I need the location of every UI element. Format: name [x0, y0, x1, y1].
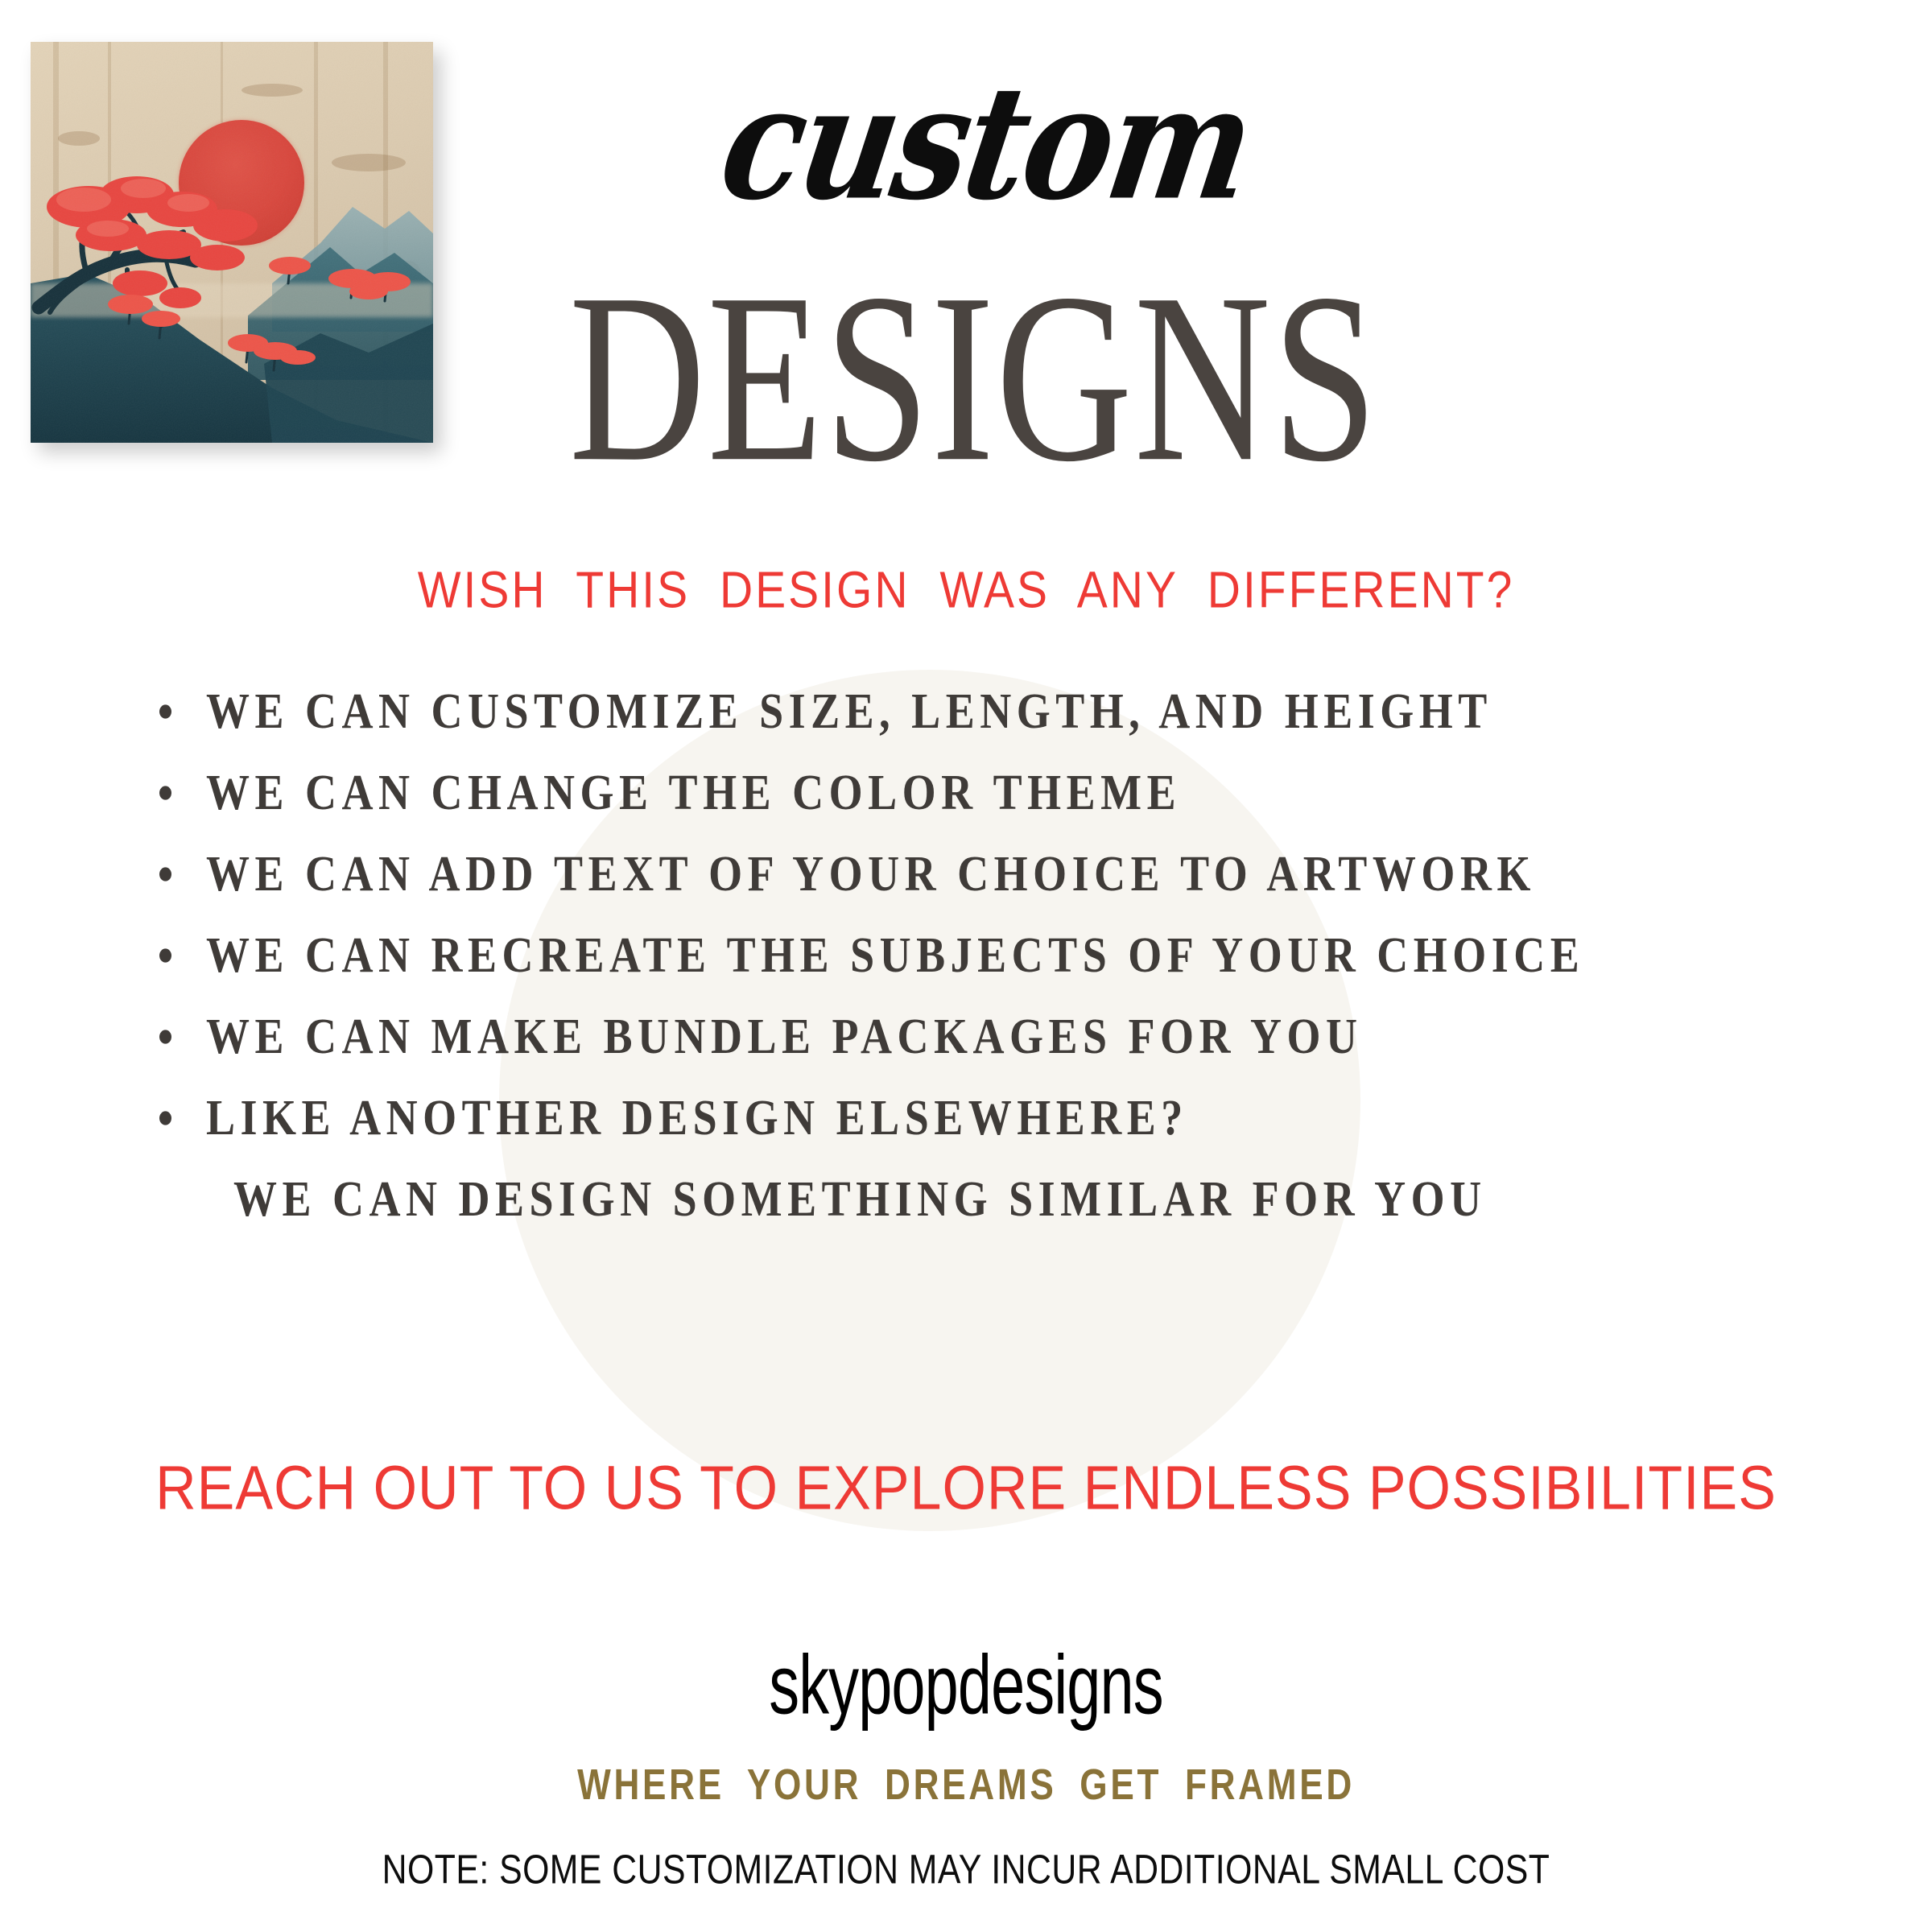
- list-item-label: LIKE ANOTHER DESIGN ELSEWHERE?: [206, 1090, 1188, 1146]
- page-title-serif: DESIGNS: [451, 263, 1497, 493]
- headline-block: custom DESIGNS: [451, 89, 1497, 443]
- page-title-script: custom: [451, 64, 1522, 221]
- list-item-label: WE CAN DESIGN SOMETHING SIMILAR FOR YOU: [233, 1171, 1487, 1227]
- bullet-dot-icon: [159, 786, 171, 799]
- list-item-continuation: WE CAN DESIGN SOMETHING SIMILAR FOR YOU: [153, 1174, 1843, 1267]
- bullet-dot-icon: [159, 704, 171, 718]
- footnote-text: NOTE: SOME CUSTOMIZATION MAY INCUR ADDIT…: [68, 1845, 1864, 1893]
- call-to-action-text: REACH OUT TO US TO EXPLORE ENDLESS POSSI…: [0, 1452, 1932, 1523]
- list-item-label: WE CAN RECREATE THE SUBJECTS OF YOUR CHO…: [206, 927, 1584, 983]
- brand-logo-text: skypopdesigns: [135, 1637, 1797, 1733]
- list-item-label: WE CAN MAKE BUNDLE PACKAGES FOR YOU: [206, 1009, 1363, 1064]
- bullet-dot-icon: [159, 948, 171, 962]
- artwork-thumbnail: [31, 42, 433, 443]
- brand-tagline: WHERE YOUR DREAMS GET FRAMED: [77, 1761, 1855, 1810]
- benefits-list: WE CAN CUSTOMIZE SIZE, LENGTH, AND HEIGH…: [153, 692, 1843, 1261]
- list-item-label: WE CAN ADD TEXT OF YOUR CHOICE TO ARTWOR…: [206, 846, 1536, 902]
- bullet-dot-icon: [159, 1030, 171, 1043]
- bullet-dot-icon: [159, 1111, 171, 1125]
- subheading: WISH THIS DESIGN WAS ANY DIFFERENT?: [0, 560, 1932, 620]
- artwork-image: [31, 42, 433, 443]
- list-item-label: WE CAN CUSTOMIZE SIZE, LENGTH, AND HEIGH…: [206, 683, 1492, 739]
- list-item-label: WE CAN CHANGE THE COLOR THEME: [206, 765, 1181, 820]
- bullet-dot-icon: [159, 867, 171, 881]
